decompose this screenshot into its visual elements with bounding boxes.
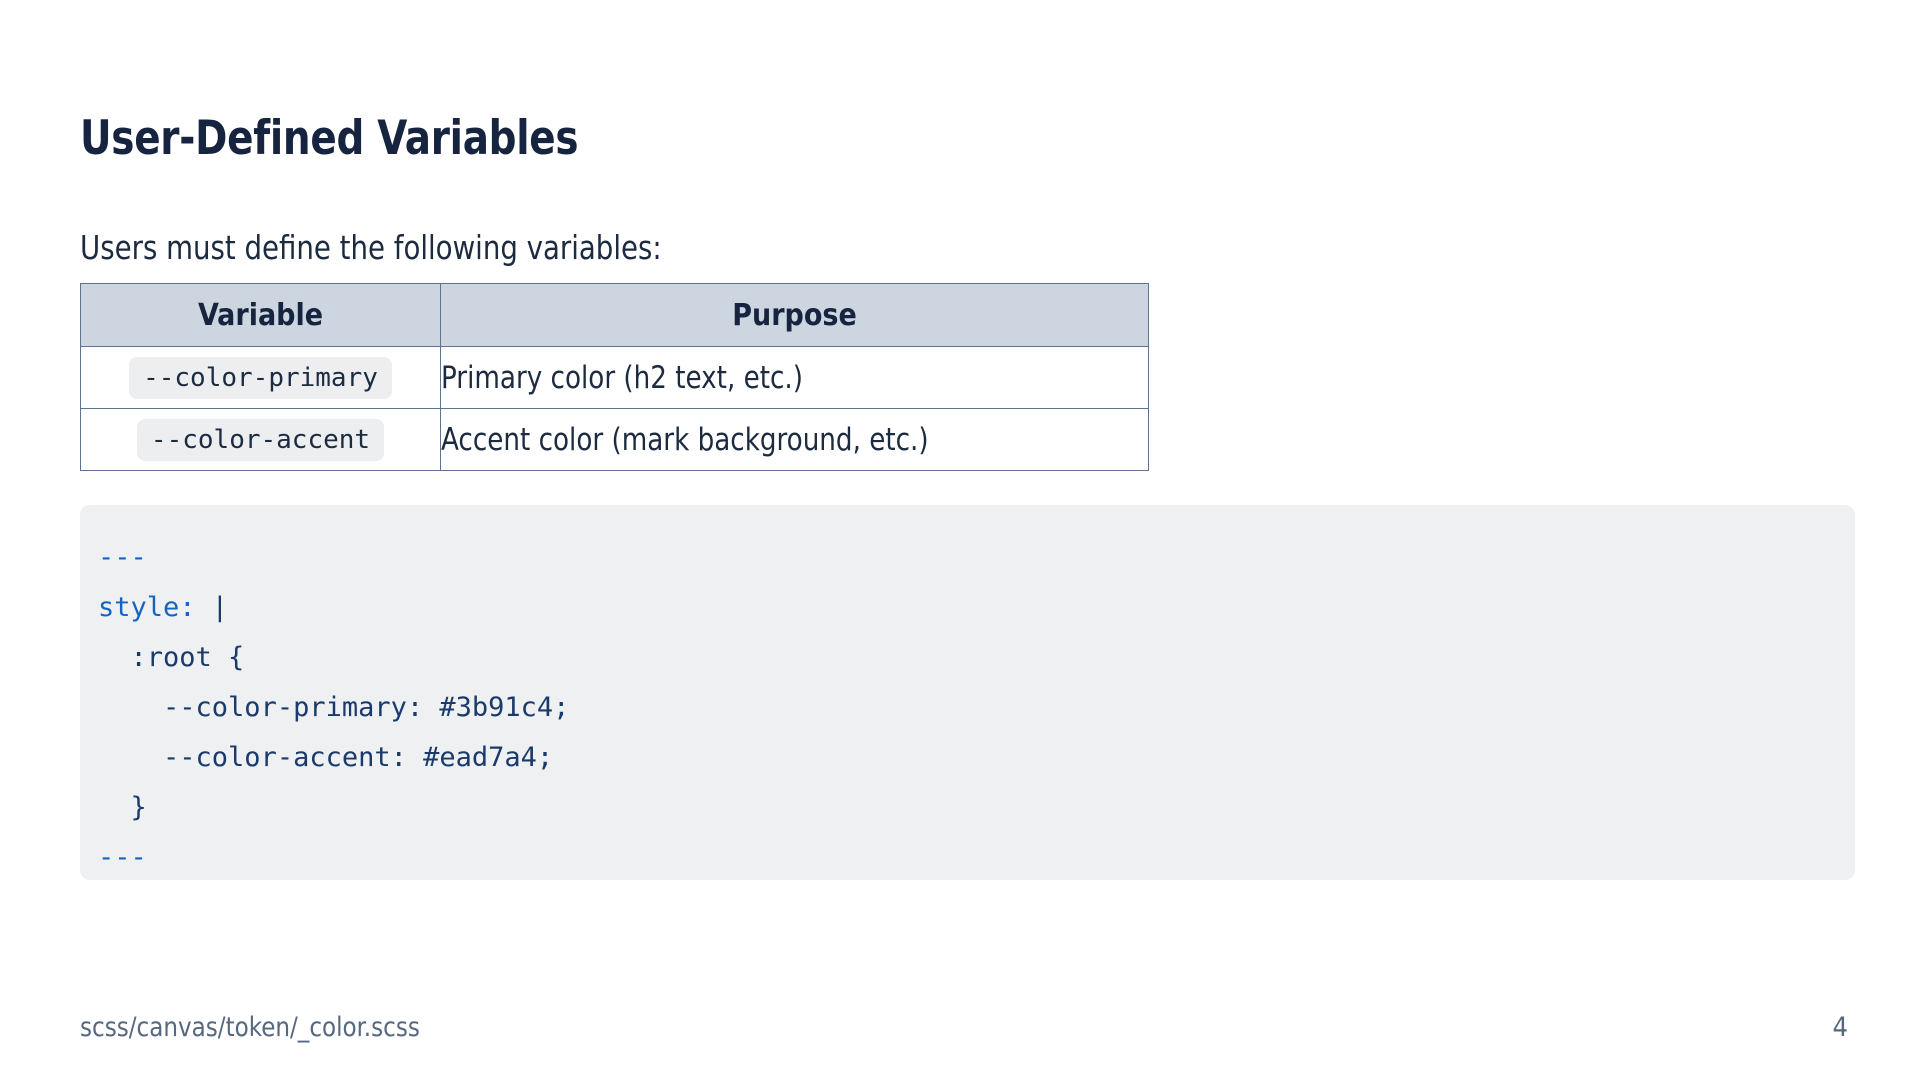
code-block-content: --- style: | :root { --color-primary: #3… <box>98 533 1855 880</box>
column-header-variable: Variable <box>81 284 441 347</box>
inline-code-color-primary: --color-primary <box>129 357 392 399</box>
code-token: style: <box>98 592 196 623</box>
page-title: User-Defined Variables <box>80 111 578 166</box>
code-token: :root { <box>131 642 245 673</box>
code-block: --- style: | :root { --color-primary: #3… <box>80 505 1855 880</box>
code-token: } <box>131 792 147 823</box>
cell-variable: --color-accent <box>81 409 441 471</box>
code-token: --color-primary: #3b91c4; <box>163 692 569 723</box>
code-token: --- <box>98 842 147 873</box>
footer-file-path: scss/canvas/token/_color.scss <box>80 1012 420 1043</box>
slide-root: User-Defined Variables Users must define… <box>0 0 1920 1080</box>
table-header-row: Variable Purpose <box>81 284 1149 347</box>
column-header-purpose: Purpose <box>441 284 1149 347</box>
cell-purpose: Primary color (h2 text, etc.) <box>441 347 1149 409</box>
cell-variable: --color-primary <box>81 347 441 409</box>
table-row: --color-accent Accent color (mark backgr… <box>81 409 1149 471</box>
purpose-text: Primary color (h2 text, etc.) <box>441 360 803 396</box>
lead-paragraph: Users must define the following variable… <box>80 228 662 267</box>
inline-code-color-accent: --color-accent <box>137 419 384 461</box>
cell-purpose: Accent color (mark background, etc.) <box>441 409 1149 471</box>
purpose-text: Accent color (mark background, etc.) <box>441 422 929 458</box>
code-token: --- <box>98 542 147 573</box>
table-body: --color-primary Primary color (h2 text, … <box>81 347 1149 471</box>
code-token: | <box>196 592 229 623</box>
footer-page-number: 4 <box>1833 1012 1848 1043</box>
variables-table: Variable Purpose --color-primary Primary… <box>80 283 1149 471</box>
table-header: Variable Purpose <box>81 284 1149 347</box>
table-row: --color-primary Primary color (h2 text, … <box>81 347 1149 409</box>
code-token: --color-accent: #ead7a4; <box>163 742 553 773</box>
